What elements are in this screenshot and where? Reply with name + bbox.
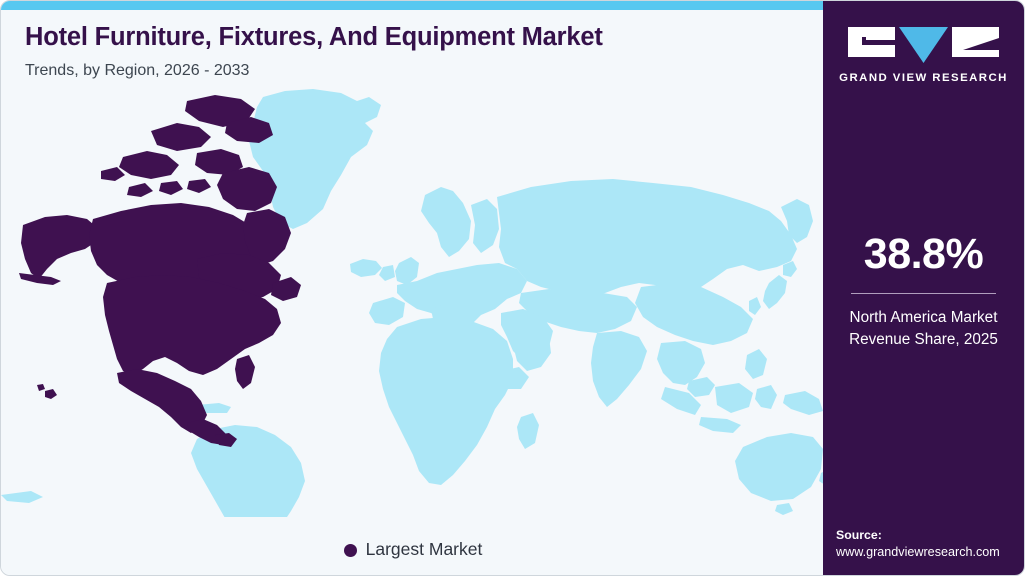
region-iberia (369, 297, 405, 325)
infographic-card: Hotel Furniture, Fixtures, And Equipment… (0, 0, 1025, 576)
region-tasmania (775, 503, 793, 515)
map-panel: Hotel Furniture, Fixtures, And Equipment… (1, 1, 825, 576)
triangle-svg (899, 27, 948, 63)
logo-letter-v-triangle-icon (899, 27, 948, 63)
legend-label: Largest Market (366, 541, 483, 559)
region-arctic-islands-1 (119, 151, 179, 179)
world-map-svg (1, 87, 825, 517)
map-legend: Largest Market (1, 533, 825, 567)
region-madagascar (517, 413, 539, 449)
source-block: Source: www.grandviewresearch.com (836, 527, 1025, 561)
region-arctic-small-3 (159, 181, 183, 195)
world-map (1, 87, 825, 517)
region-hawaii (45, 389, 57, 399)
region-new-guinea (783, 391, 823, 415)
region-east-asia (635, 283, 753, 345)
region-philippines (745, 349, 767, 379)
region-borneo (715, 383, 753, 413)
source-url[interactable]: www.grandviewresearch.com (836, 544, 1025, 561)
source-label: Source: (836, 527, 1025, 544)
region-hawaii-small (37, 384, 45, 391)
region-russia (497, 179, 797, 297)
logo-wordmark: GRAND VIEW RESEARCH (823, 72, 1024, 84)
region-greenland (249, 89, 381, 229)
region-australia (735, 433, 823, 501)
region-antarctic-edge (1, 491, 43, 503)
brand-panel: GRAND VIEW RESEARCH 38.8% North America … (823, 1, 1024, 576)
stat-block: 38.8% North America Market Revenue Share… (823, 233, 1024, 351)
brand-logo: GRAND VIEW RESEARCH (823, 27, 1024, 84)
page-title: Hotel Furniture, Fixtures, And Equipment… (25, 23, 785, 52)
stat-label: North America Market Revenue Share, 2025 (823, 307, 1024, 351)
region-arctic-small-2 (127, 183, 153, 197)
region-japan (763, 275, 787, 309)
accent-bar (1, 1, 825, 10)
legend-dot-icon (344, 544, 357, 557)
stat-value: 38.8% (823, 233, 1024, 276)
wedge-svg (963, 38, 999, 50)
region-florida (235, 355, 255, 389)
stat-label-line2: Revenue Share, 2025 (823, 329, 1024, 351)
region-baffin (217, 167, 277, 211)
stat-label-line1: North America Market (823, 307, 1024, 329)
stat-divider (851, 293, 996, 294)
page-subtitle: Trends, by Region, 2026 - 2033 (25, 61, 785, 80)
region-arctic-small-4 (187, 179, 211, 193)
region-arctic-islands-2 (151, 123, 211, 151)
title-block: Hotel Furniture, Fixtures, And Equipment… (25, 23, 785, 81)
region-iceland (350, 259, 382, 277)
logo-wedge-icon (963, 37, 999, 49)
region-finland-baltic (471, 199, 499, 253)
legend-item-largest-market: Largest Market (344, 541, 483, 559)
region-africa (379, 317, 513, 485)
logo-marks (823, 27, 1024, 63)
logo-letter-r-icon (952, 27, 999, 57)
region-british-isles (395, 257, 419, 285)
region-sulawesi (755, 385, 777, 409)
region-scandinavia (421, 187, 471, 257)
region-india (591, 331, 647, 407)
region-arctic-small-1 (101, 167, 125, 181)
region-korea (749, 297, 761, 315)
region-java (699, 417, 741, 433)
logo-letter-g-icon (848, 27, 895, 57)
region-alaska (21, 215, 99, 279)
region-indochina (657, 341, 705, 385)
